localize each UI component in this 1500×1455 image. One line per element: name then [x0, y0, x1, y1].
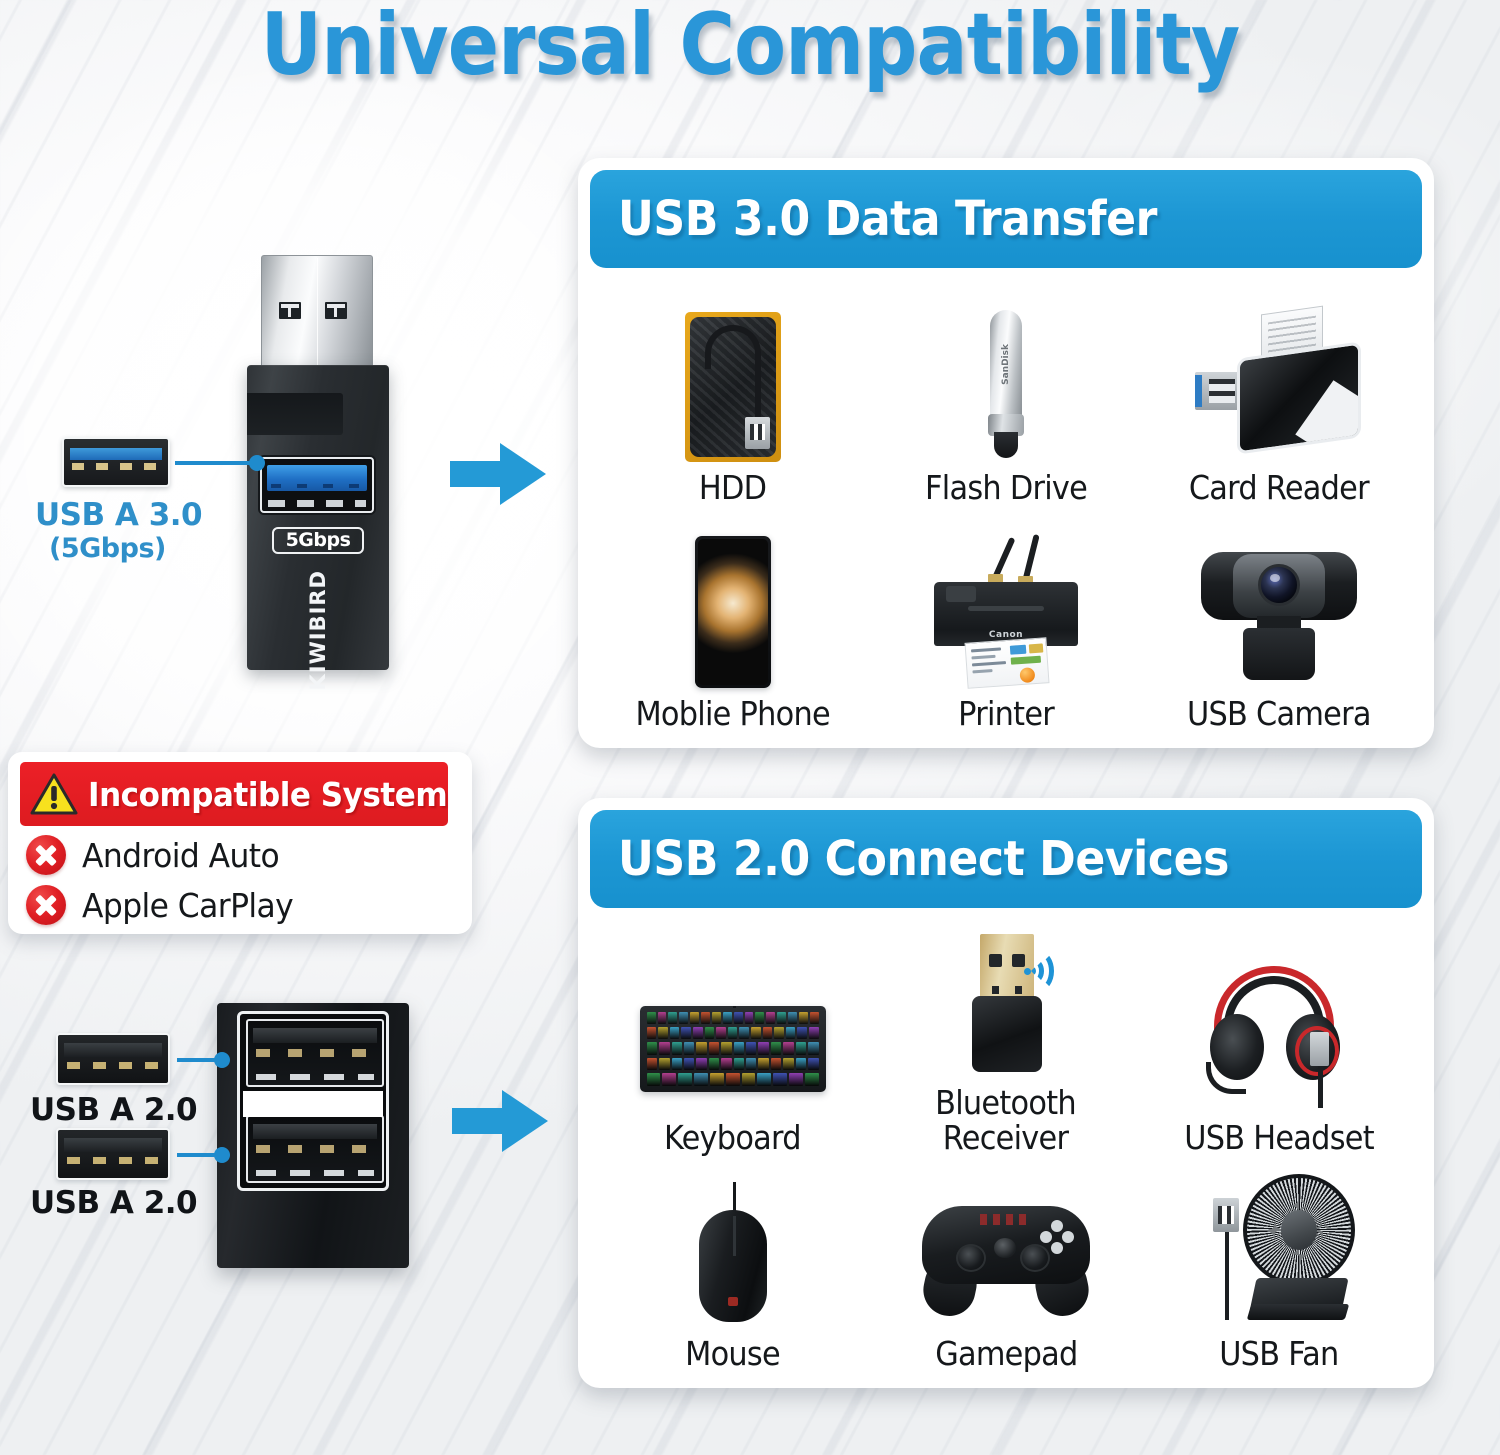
usb2-upper-pins	[256, 1049, 374, 1057]
panel-usb2-header-text: USB 2.0 Connect Devices	[618, 831, 1229, 887]
page-title: Universal Compatibility	[90, 0, 1410, 95]
device-item-gamepad: Gamepad	[869, 1155, 1142, 1372]
device-item-mouse: Mouse	[596, 1155, 869, 1372]
speed-badge: 5Gbps	[272, 527, 364, 554]
usb3-lower-contacts	[268, 500, 366, 507]
panel-usb3-device-grid: HDD SanDisk Flash Drive Card Reader	[596, 280, 1416, 732]
x-circle-icon	[26, 835, 66, 875]
incompatible-system-card: Incompatible System Android Auto Apple C…	[8, 752, 472, 934]
device-item-flash-drive: SanDisk Flash Drive	[869, 280, 1142, 506]
callout-dot-usb2-upper	[214, 1052, 230, 1068]
device-label: Gamepad	[935, 1336, 1077, 1372]
usb2-lower-lip	[256, 1170, 374, 1176]
device-item-card-reader: Card Reader	[1143, 280, 1416, 506]
hub-port-separator	[243, 1091, 383, 1117]
device-label: Mouse	[685, 1336, 780, 1372]
usb2-lower-tongue	[253, 1124, 377, 1139]
x-circle-icon	[26, 885, 66, 925]
usb-a-male-connector	[261, 255, 373, 367]
device-label: Printer	[958, 696, 1054, 732]
usb3-port-thumbnail	[62, 437, 170, 487]
device-label: HDD	[699, 470, 766, 506]
headset-icon	[1143, 954, 1416, 1114]
device-label: Moblie Phone	[635, 696, 829, 732]
device-label: Bluetooth Receiver	[936, 1086, 1077, 1155]
mouse-icon	[596, 1170, 869, 1330]
keyboard-icon	[596, 954, 869, 1114]
usb2-callout-label-lower: USB A 2.0	[30, 1185, 240, 1221]
usb2-port-thumbnail-upper	[56, 1033, 170, 1085]
arrow-right-icon-usb2	[452, 1090, 548, 1152]
hub-notch	[247, 393, 343, 435]
smartphone-icon	[596, 530, 869, 690]
incompatible-header: Incompatible System	[20, 762, 448, 826]
usb2-thumb-tongue	[64, 1138, 162, 1152]
arrow-right-icon-usb3	[450, 443, 546, 505]
usb3-callout-line2: (5Gbps)	[49, 533, 255, 565]
panel-usb3-data-transfer: USB 3.0 Data Transfer HDD SanDisk Flash …	[578, 158, 1434, 748]
usb3-callout-line1: USB A 3.0	[35, 497, 202, 533]
usb2-thumb-tongue	[64, 1043, 162, 1057]
panel-usb2-header: USB 2.0 Connect Devices	[590, 810, 1422, 908]
panel-usb3-header-text: USB 3.0 Data Transfer	[618, 191, 1157, 247]
warning-triangle-icon	[30, 773, 78, 816]
usb2-port-upper	[246, 1019, 384, 1087]
hub-body: 5Gbps KIWIBIRD	[247, 365, 389, 670]
callout-dot-usb3	[249, 455, 265, 471]
device-label: USB Camera	[1187, 696, 1371, 732]
usb2-thumb-pins	[67, 1157, 159, 1164]
webcam-icon	[1143, 530, 1416, 690]
device-item-printer: Canon Printer	[869, 506, 1142, 732]
usb2-port-lower	[246, 1115, 384, 1183]
callout-dot-usb2-lower	[214, 1147, 230, 1163]
usb2-thumb-pins	[67, 1062, 159, 1069]
external-hard-drive-icon	[596, 304, 869, 464]
device-label: Flash Drive	[925, 470, 1087, 506]
usb2-upper-tongue	[253, 1028, 377, 1043]
device-label: Keyboard	[664, 1120, 801, 1156]
incompatible-item-label: Android Auto	[82, 836, 279, 875]
usb-flash-drive-icon: SanDisk	[869, 304, 1142, 464]
incompatible-item-apple-carplay: Apple CarPlay	[26, 885, 304, 925]
connector-pin-left	[279, 302, 301, 319]
connector-pin-right	[325, 302, 347, 319]
device-item-keyboard: Keyboard	[596, 920, 869, 1155]
product-hub-usb2-view	[217, 1003, 409, 1268]
panel-usb2-device-grid: Keyboard Bluetooth Receiver	[596, 920, 1416, 1372]
device-item-usb-headset: USB Headset	[1143, 920, 1416, 1155]
usb2-port-thumbnail-lower	[56, 1128, 170, 1180]
usb3-thumb-tongue	[70, 448, 162, 460]
sd-card-reader-icon	[1143, 304, 1416, 464]
arrow-head	[500, 443, 546, 505]
incompatible-item-label: Apple CarPlay	[82, 886, 293, 925]
usb2-upper-lip	[256, 1074, 374, 1080]
incompatible-title: Incompatible System	[88, 775, 447, 814]
device-item-bluetooth-receiver: Bluetooth Receiver	[869, 920, 1142, 1155]
device-item-usb-fan: USB Fan	[1143, 1155, 1416, 1372]
printer-icon: Canon	[869, 530, 1142, 690]
panel-usb2-connect-devices: USB 2.0 Connect Devices Keyboard	[578, 798, 1434, 1388]
device-label: USB Headset	[1184, 1120, 1374, 1156]
usb2-callout-label-upper: USB A 2.0	[30, 1092, 240, 1128]
incompatible-item-android-auto: Android Auto	[26, 835, 290, 875]
usb3-port-blue	[260, 457, 374, 513]
fan-icon	[1143, 1170, 1416, 1330]
device-label: Card Reader	[1189, 470, 1369, 506]
product-hub-usb3-view: 5Gbps KIWIBIRD	[247, 255, 389, 670]
usb3-thumb-pins	[72, 463, 160, 470]
usb3-tongue	[267, 465, 367, 491]
device-item-mobile-phone: Moblie Phone	[596, 506, 869, 732]
panel-usb3-header: USB 3.0 Data Transfer	[590, 170, 1422, 268]
device-item-hdd: HDD	[596, 280, 869, 506]
bluetooth-dongle-icon	[869, 920, 1142, 1080]
gamepad-icon	[869, 1170, 1142, 1330]
device-label: USB Fan	[1220, 1336, 1339, 1372]
brand-label: KIWIBIRD	[306, 570, 330, 691]
usb2-lower-pins	[256, 1145, 374, 1153]
usb3-callout-label: USB A 3.0 (5Gbps)	[35, 497, 255, 565]
arrow-head	[502, 1090, 548, 1152]
device-item-usb-camera: USB Camera	[1143, 506, 1416, 732]
